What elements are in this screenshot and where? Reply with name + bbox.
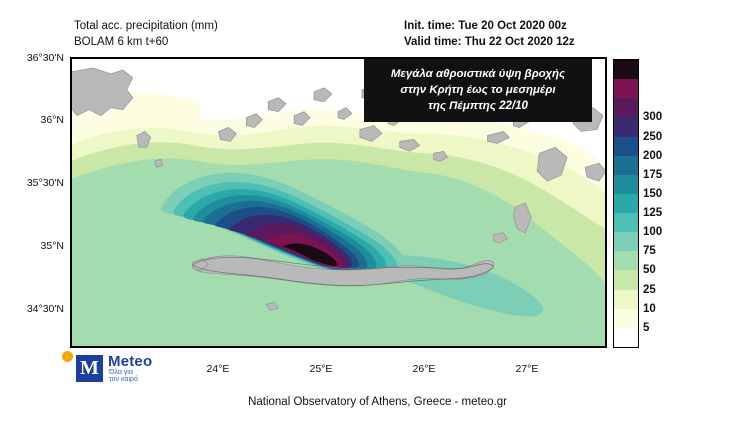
x-tick-0: 24°E [188,363,248,375]
colorbar-segment [614,194,638,213]
colorbar-segment [614,232,638,251]
colorbar-tick-label: 50 [643,264,656,276]
y-tick-1: 36°N [2,114,64,126]
colorbar-tick-label: 250 [643,131,662,143]
x-tick-3: 27°E [497,363,557,375]
colorbar-tick-label: 10 [643,303,656,315]
logo-tagline-2: τον καιρό [109,376,138,383]
x-tick-1: 25°E [291,363,351,375]
colorbar-tick-label: 5 [643,322,649,334]
colorbar-segment [614,175,638,194]
colorbar-tick-label: 200 [643,150,662,162]
colorbar-tick-label: 75 [643,245,656,257]
colorbar-tick-label: 25 [643,284,656,296]
colorbar-segment [614,79,638,98]
colorbar-segment [614,251,638,270]
colorbar-tick-label: 150 [643,188,662,200]
chart-title: Total acc. precipitation (mm) [74,19,218,34]
colorbar-segment [614,156,638,175]
valid-time-label: Valid time: Thu 22 Oct 2020 12z [404,35,575,50]
y-tick-2: 35°30'N [2,177,64,189]
chart-subtitle: BOLAM 6 km t+60 [74,35,168,50]
colorbar-segment [614,290,638,309]
y-tick-0: 36°30'N [2,52,64,64]
annotation-line-1: Μεγάλα αθροιστικά ύψη βροχής [372,66,584,82]
colorbar-segment [614,270,638,289]
colorbar-tick-label: 125 [643,207,662,219]
colorbar-segment [614,309,638,328]
colorbar-segment [614,213,638,232]
colorbar-segment [614,137,638,156]
logo-name: Meteo [108,353,152,370]
logo-tagline-1: Όλα για [109,369,133,376]
x-tick-2: 26°E [394,363,454,375]
colorbar-tick-label: 175 [643,169,662,181]
annotation-line-3: της Πέμπτης 22/10 [372,98,584,114]
logo-mark: M [76,355,103,382]
colorbar [613,59,639,348]
colorbar-segment [614,60,638,79]
colorbar-segment [614,117,638,136]
forecast-map-figure: Total acc. precipitation (mm) BOLAM 6 km… [0,0,755,424]
meteo-logo[interactable]: M Meteo Όλα για τον καιρό [62,350,192,384]
logo-sun-icon [62,351,73,362]
y-tick-3: 35°N [2,240,64,252]
y-tick-4: 34°30'N [2,303,64,315]
colorbar-segment [614,328,638,347]
annotation-line-2: στην Κρήτη έως το μεσημέρι [372,82,584,98]
annotation-box: Μεγάλα αθροιστικά ύψη βροχής στην Κρήτη … [364,59,592,122]
footer-credit: National Observatory of Athens, Greece -… [0,396,755,408]
colorbar-segment [614,98,638,117]
colorbar-tick-label: 300 [643,111,662,123]
colorbar-tick-label: 100 [643,226,662,238]
init-time-label: Init. time: Tue 20 Oct 2020 00z [404,19,567,34]
